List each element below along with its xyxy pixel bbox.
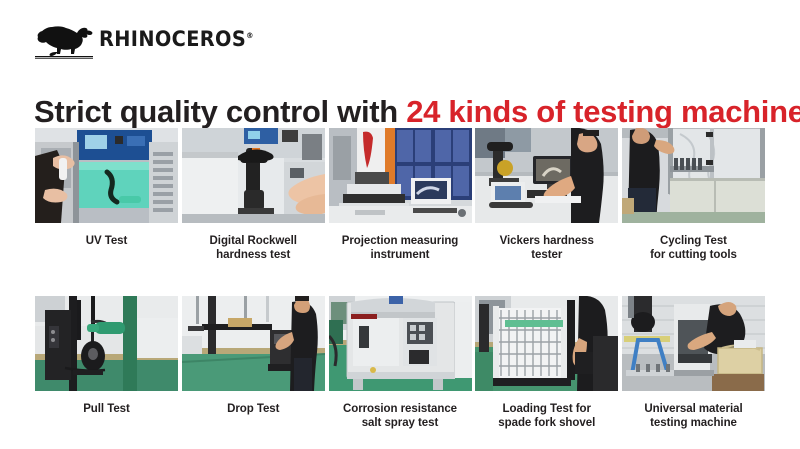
gallery-item-caption: Projection measuring instrument [342, 234, 459, 262]
gallery-item-caption: Digital Rockwell hardness test [210, 234, 297, 262]
gallery-item-caption: Cycling Test for cutting tools [650, 234, 737, 262]
gallery-item-caption: UV Test [86, 234, 128, 248]
headline-prefix: Strict quality control with [34, 94, 406, 129]
gallery-item-caption: Drop Test [227, 402, 279, 416]
brand-wordmark: RHINOCEROS® [99, 27, 254, 51]
cycling-test-for-cutting-tools-photo [622, 128, 765, 223]
gallery-item-projection-measuring-instrument[interactable]: Projection measuring instrument [329, 128, 472, 262]
gallery-item-caption: Loading Test for spade fork shovel [498, 402, 595, 430]
drop-test-photo [182, 296, 325, 391]
headline-accent: 24 kinds of testing machine [406, 94, 800, 129]
gallery-item-caption: Corrosion resistance salt spray test [343, 402, 457, 430]
universal-material-testing-machine-photo [622, 296, 765, 391]
gallery-item-caption: Pull Test [83, 402, 130, 416]
brand-name: RHINOCEROS [99, 27, 246, 51]
gallery-item-pull-test[interactable]: Pull Test [35, 296, 178, 416]
corrosion-resistance-salt-spray-test-photo [329, 296, 472, 391]
gallery-item-corrosion-resistance-salt-spray-test[interactable]: Corrosion resistance salt spray test [329, 296, 472, 430]
projection-measuring-instrument-photo [329, 128, 472, 223]
gallery-item-caption: Vickers hardness tester [500, 234, 594, 262]
digital-rockwell-hardness-test-photo [182, 128, 325, 223]
gallery-item-universal-material-testing-machine[interactable]: Universal material testing machine [622, 296, 765, 430]
gallery-row: UV Test [35, 128, 765, 262]
vickers-hardness-tester-photo [475, 128, 618, 223]
page-title: Strict quality control with 24 kinds of … [34, 95, 800, 129]
gallery-item-vickers-hardness-tester[interactable]: Vickers hardness tester [475, 128, 618, 262]
testing-machine-gallery: UV Test [35, 128, 765, 430]
brand-logo: RHINOCEROS® [33, 18, 267, 60]
loading-test-for-spade-fork-shovel-photo [475, 296, 618, 391]
gallery-row: Pull Test [35, 296, 765, 430]
gallery-item-uv-test[interactable]: UV Test [35, 128, 178, 248]
rhinoceros-logo-icon [33, 19, 95, 59]
gallery-item-cycling-test-for-cutting-tools[interactable]: Cycling Test for cutting tools [622, 128, 765, 262]
gallery-item-drop-test[interactable]: Drop Test [182, 296, 325, 416]
pull-test-photo [35, 296, 178, 391]
gallery-item-loading-test-for-spade-fork-shovel[interactable]: Loading Test for spade fork shovel [475, 296, 618, 430]
uv-test-photo [35, 128, 178, 223]
registered-mark-icon: ® [246, 31, 254, 40]
gallery-item-caption: Universal material testing machine [644, 402, 742, 430]
gallery-item-digital-rockwell-hardness-test[interactable]: Digital Rockwell hardness test [182, 128, 325, 262]
